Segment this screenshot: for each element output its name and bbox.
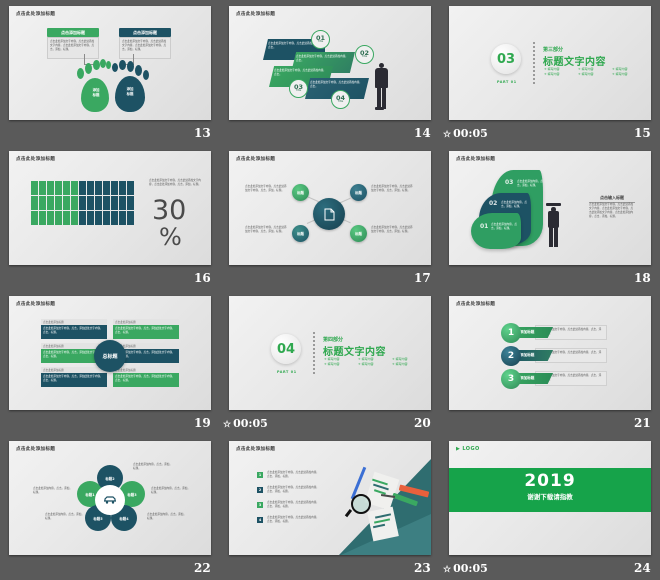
page-title: 点击此处添加标题 <box>236 156 275 162</box>
slide-number: 17 <box>414 271 431 285</box>
person-icon <box>39 196 46 210</box>
grid-cell-6: 点击此处添加标题 点击此处添加文字内容，点击，添加此处文字内容，点击，标题。 <box>113 367 179 387</box>
petal-text-1: 点击此处添加内容，点击，添加，标题。 <box>33 487 73 495</box>
percent-sign: % <box>159 223 182 251</box>
list-number-4: 4 <box>257 517 263 523</box>
person-icon <box>103 181 110 195</box>
star-icon: ☆ <box>443 565 451 575</box>
row-footer-1: 13 14 ☆00:05 15 <box>0 125 660 145</box>
section-subtitle: 第三部分 <box>543 46 563 53</box>
person-icon <box>127 181 134 195</box>
node-circle-1: 标题 <box>292 184 309 201</box>
person-icon <box>103 196 110 210</box>
step-number-01: 01Title <box>311 30 330 49</box>
star-icon: ☆ <box>443 130 451 140</box>
person-icon <box>79 196 86 210</box>
node-text-1: 点击此处添加文字内容，点击此处添加文字内容，点击，添加，标题。 <box>245 185 289 193</box>
section-title: 标题文字内容 <box>543 53 606 68</box>
page-title: 点击此处添加标题 <box>456 301 495 307</box>
section-title: 标题文字内容 <box>323 343 386 358</box>
person-icon <box>71 196 78 210</box>
page-title: 点击此处添加标题 <box>16 156 55 162</box>
node-text-3: 点击此处添加文字内容，点击此处添加文字内容，点击，添加，标题。 <box>245 226 289 234</box>
slide-number: 15 <box>634 126 651 140</box>
slide-thumbnail-23[interactable]: 点击此处添加标题 1 点击此处添加文字内容，点击此处添加内容，点击，添加，标题。… <box>220 435 440 560</box>
list-text-3: 点击此处添加文字内容，点击此处添加内容，点击，添加，标题。 <box>267 501 319 509</box>
node-circle-4: 标题 <box>350 225 367 242</box>
slide-thumbnail-22[interactable]: 点击此处添加标题 标题1 标题2 标题3 标题4 标题5 点击此处添加内容，点击… <box>0 435 220 560</box>
step-number-03: 03Title <box>289 79 308 98</box>
petal-text-5: 点击此处添加内容，点击，添加，标题。 <box>45 513 85 521</box>
person-icon <box>71 181 78 195</box>
leaf-text-02: 点击此处添加内容，点击，添加，标题。 <box>501 201 527 209</box>
slide-thumbnail-17[interactable]: 点击此处添加标题 标题 标题 标题 标题 点击此处添加文字内容，点击此处添加文字… <box>220 145 440 270</box>
slide-thumbnail-18[interactable]: 点击此处添加标题 03 02 01 点击此处添加内容，点击，添加，标题。 点击此… <box>440 145 660 270</box>
section-number-circle: 04 <box>271 334 301 364</box>
part-label: PART 01 <box>497 80 517 84</box>
slide-number: 22 <box>194 561 211 575</box>
person-icon <box>103 211 110 225</box>
bullet-list: ✳ 填写内容 ✳ 填写内容 ✳ 填写内容 ✳ 填写内容 ✳ 填写内容 ✳ 填写内… <box>324 357 424 366</box>
caption-left: 点击添加标题 <box>47 28 99 37</box>
slide-canvas-24[interactable]: ▶ LOGO 2019 谢谢下载请指教 <box>449 441 651 555</box>
leaf-number-01: 01 <box>480 223 488 230</box>
caption-right: 点击添加标题 <box>119 28 171 37</box>
row-number-1: 1 <box>501 323 521 343</box>
person-icon <box>63 181 70 195</box>
footprint-right-label: 添加标题 <box>118 87 142 97</box>
note-text: 点击此处添加文字内容，点击此处添加文字内容，点击此处添加内容，点击，添加，标题。 <box>149 179 205 187</box>
person-icon <box>119 181 126 195</box>
footprint-left-label: 添加标题 <box>84 88 108 98</box>
list-number-1: 1 <box>257 472 263 478</box>
slide-canvas-23[interactable]: 点击此处添加标题 1 点击此处添加文字内容，点击此处添加内容，点击，添加，标题。… <box>229 441 431 555</box>
page-title: 点击此处添加标题 <box>16 301 55 307</box>
part-label: PART 01 <box>277 370 297 374</box>
slide-thumbnail-grid: 点击此处添加标题 点击添加标题 点击添加标题 点击此处添加文字内容，点击此处添加… <box>0 0 660 565</box>
person-icon <box>47 181 54 195</box>
person-icon <box>95 181 102 195</box>
percent-value: 30 <box>152 195 186 226</box>
bullet-list: ✳ 填写内容 ✳ 填写内容 ✳ 填写内容 ✳ 填写内容 ✳ 填写内容 ✳ 填写内… <box>544 67 644 76</box>
slide-canvas-13[interactable]: 点击此处添加标题 点击添加标题 点击添加标题 点击此处添加文字内容，点击此处添加… <box>9 6 211 120</box>
center-label: 总标题 <box>94 340 126 372</box>
leaf-text-03: 点击此处添加内容，点击，添加，标题。 <box>517 180 543 188</box>
person-icon <box>111 196 118 210</box>
person-icon <box>79 211 86 225</box>
slide-canvas-18[interactable]: 点击此处添加标题 03 02 01 点击此处添加内容，点击，添加，标题。 点击此… <box>449 151 651 265</box>
node-circle-3: 标题 <box>292 225 309 242</box>
person-icon <box>87 196 94 210</box>
list-text-1: 点击此处添加文字内容，点击此处添加内容，点击，添加，标题。 <box>267 471 319 479</box>
slide-thumbnail-13[interactable]: 点击此处添加标题 点击添加标题 点击添加标题 点击此处添加文字内容，点击此处添加… <box>0 0 220 125</box>
step-number-02: 02Title <box>355 45 374 64</box>
slide-canvas-14[interactable]: 点击此处添加标题 点击此处添加文字内容，点击此处添加内容，点击。 点击此处添加文… <box>229 6 431 120</box>
row-number-2: 2 <box>501 346 521 366</box>
step-number-04: 04Title <box>331 90 350 109</box>
slide-canvas-20[interactable]: 04 PART 01 第四部分 标题文字内容 ✳ 填写内容 ✳ 填写内容 ✳ 填… <box>229 296 431 410</box>
slide-canvas-22[interactable]: 点击此处添加标题 标题1 标题2 标题3 标题4 标题5 点击此处添加内容，点击… <box>9 441 211 555</box>
dotted-divider <box>313 332 315 374</box>
person-icon <box>55 211 62 225</box>
slide-number: 24 <box>634 561 651 575</box>
leaf-text-01: 点击此处添加内容，点击，添加，标题。 <box>491 223 517 231</box>
side-text: 点击此处添加文字内容，点击此处添加文字内容，点击此处添加文字内容，点击此处添加文… <box>589 203 635 219</box>
slide-canvas-21[interactable]: 点击此处添加标题 点击此处添加文字内容，点击此处添加内容，点击，添加，标题。 添… <box>449 296 651 410</box>
document-icon <box>324 208 335 221</box>
car-icon <box>103 495 117 505</box>
grid-cell-2: 点击此处添加标题 点击此处添加文字内容，点击，添加此处文字内容，点击，标题。 <box>113 319 179 339</box>
section-subtitle: 第四部分 <box>323 336 343 343</box>
row-footer-4: 22 23 ☆00:05 24 <box>0 560 660 580</box>
page-title: 点击此处添加标题 <box>16 446 55 452</box>
list-number-3: 3 <box>257 502 263 508</box>
person-icon <box>63 196 70 210</box>
person-icon <box>87 181 94 195</box>
slide-number: 18 <box>634 271 651 285</box>
list-number-2: 2 <box>257 487 263 493</box>
leaf-number-02: 02 <box>489 200 497 207</box>
list-text-2: 点击此处添加文字内容，点击此处添加内容，点击，添加，标题。 <box>267 486 319 494</box>
person-icon <box>55 181 62 195</box>
node-circle-2: 标题 <box>350 184 367 201</box>
person-icon <box>119 196 126 210</box>
person-icon <box>127 211 134 225</box>
slide-thumbnail-19[interactable]: 点击此处添加标题 点击此处添加标题 点击此处添加文字内容，点击，添加此处文字内容… <box>0 290 220 415</box>
slide-duration: ☆00:05 <box>223 417 268 430</box>
node-text-4: 点击此处添加文字内容，点击此处添加文字内容，点击，添加，标题。 <box>371 226 415 234</box>
person-icon <box>31 211 38 225</box>
star-icon: ☆ <box>223 420 231 430</box>
person-icon <box>79 181 86 195</box>
row-number-3: 3 <box>501 369 521 389</box>
slide-number: 13 <box>194 126 211 140</box>
petal-text-2: 点击此处添加内容，点击，添加，标题。 <box>133 463 173 471</box>
slide-thumbnail-24[interactable]: ▶ LOGO 2019 谢谢下载请指教 <box>440 435 660 560</box>
leaf-number-03: 03 <box>505 179 513 186</box>
slide-number: 19 <box>194 416 211 430</box>
slide-thumbnail-15[interactable]: 03 PART 01 第三部分 标题文字内容 ✳ 填写内容 ✳ 填写内容 ✳ 填… <box>440 0 660 125</box>
petal-text-4: 点击此处添加内容，点击，添加，标题。 <box>147 513 187 521</box>
person-icon <box>71 211 78 225</box>
side-heading: 点击输入标题 <box>589 195 635 203</box>
grid-cell-5: 点击此处添加标题 点击此处添加文字内容，点击，添加此处文字内容，点击，标题。 <box>41 367 107 387</box>
slide-thumbnail-20[interactable]: 04 PART 01 第四部分 标题文字内容 ✳ 填写内容 ✳ 填写内容 ✳ 填… <box>220 290 440 415</box>
hub-center <box>313 198 345 230</box>
slide-number: 23 <box>414 561 431 575</box>
page-title: 点击此处添加标题 <box>456 156 495 162</box>
dotted-divider <box>533 42 535 84</box>
slide-thumbnail-14[interactable]: 点击此处添加标题 点击此处添加文字内容，点击此处添加内容，点击。 点击此处添加文… <box>220 0 440 125</box>
slide-duration: ☆00:05 <box>443 562 488 575</box>
person-icon <box>111 181 118 195</box>
node-text-2: 点击此处添加文字内容，点击此处添加文字内容，点击，添加，标题。 <box>371 185 415 193</box>
person-icon <box>31 196 38 210</box>
person-icon <box>47 211 54 225</box>
slide-number: 14 <box>414 126 431 140</box>
slide-number: 20 <box>414 416 431 430</box>
row-footer-2: 16 17 18 <box>0 270 660 290</box>
slide-thumbnail-21[interactable]: 点击此处添加标题 点击此处添加文字内容，点击此处添加内容，点击，添加，标题。 添… <box>440 290 660 415</box>
slide-thumbnail-16[interactable]: 点击此处添加标题 点击此处添加文字内容，点击此处添加文字内容，点击此处添加内容，… <box>0 145 220 270</box>
person-icon <box>95 196 102 210</box>
flower-center <box>95 485 125 515</box>
slide-number: 21 <box>634 416 651 430</box>
list-text-4: 点击此处添加文字内容，点击此处添加内容，点击，添加，标题。 <box>267 516 319 524</box>
section-number-circle: 03 <box>491 44 521 74</box>
slide-canvas-16[interactable]: 点击此处添加标题 点击此处添加文字内容，点击此处添加文字内容，点击此处添加内容，… <box>9 151 211 265</box>
slide-canvas-17[interactable]: 点击此处添加标题 标题 标题 标题 标题 点击此处添加文字内容，点击此处添加文字… <box>229 151 431 265</box>
year-text: 2019 <box>449 471 651 491</box>
grid-cell-1: 点击此处添加标题 点击此处添加文字内容，点击，添加此处文字内容，点击，标题。 <box>41 319 107 339</box>
slide-duration: ☆00:05 <box>443 127 488 140</box>
person-icon <box>63 211 70 225</box>
person-icon <box>87 211 94 225</box>
person-icon <box>39 211 46 225</box>
page-title: 点击此处添加标题 <box>16 11 55 17</box>
person-icon <box>31 181 38 195</box>
person-icon <box>39 181 46 195</box>
slide-number: 16 <box>194 271 211 285</box>
page-title: 点击此处添加标题 <box>236 446 275 452</box>
person-icon <box>55 196 62 210</box>
slide-canvas-15[interactable]: 03 PART 01 第三部分 标题文字内容 ✳ 填写内容 ✳ 填写内容 ✳ 填… <box>449 6 651 120</box>
person-icon <box>111 211 118 225</box>
person-icon <box>95 211 102 225</box>
page-title: 点击此处添加标题 <box>236 11 275 17</box>
person-icon <box>127 196 134 210</box>
person-icon <box>119 211 126 225</box>
petal-text-3: 点击此处添加内容，点击，添加，标题。 <box>151 487 191 495</box>
people-pictogram <box>31 181 134 225</box>
person-icon <box>47 196 54 210</box>
slide-canvas-19[interactable]: 点击此处添加标题 点击此处添加标题 点击此处添加文字内容，点击，添加此处文字内容… <box>9 296 211 410</box>
logo: ▶ LOGO <box>456 446 480 452</box>
thanks-text: 谢谢下载请指教 <box>449 491 651 501</box>
row-footer-3: 19 ☆00:05 20 21 <box>0 415 660 435</box>
